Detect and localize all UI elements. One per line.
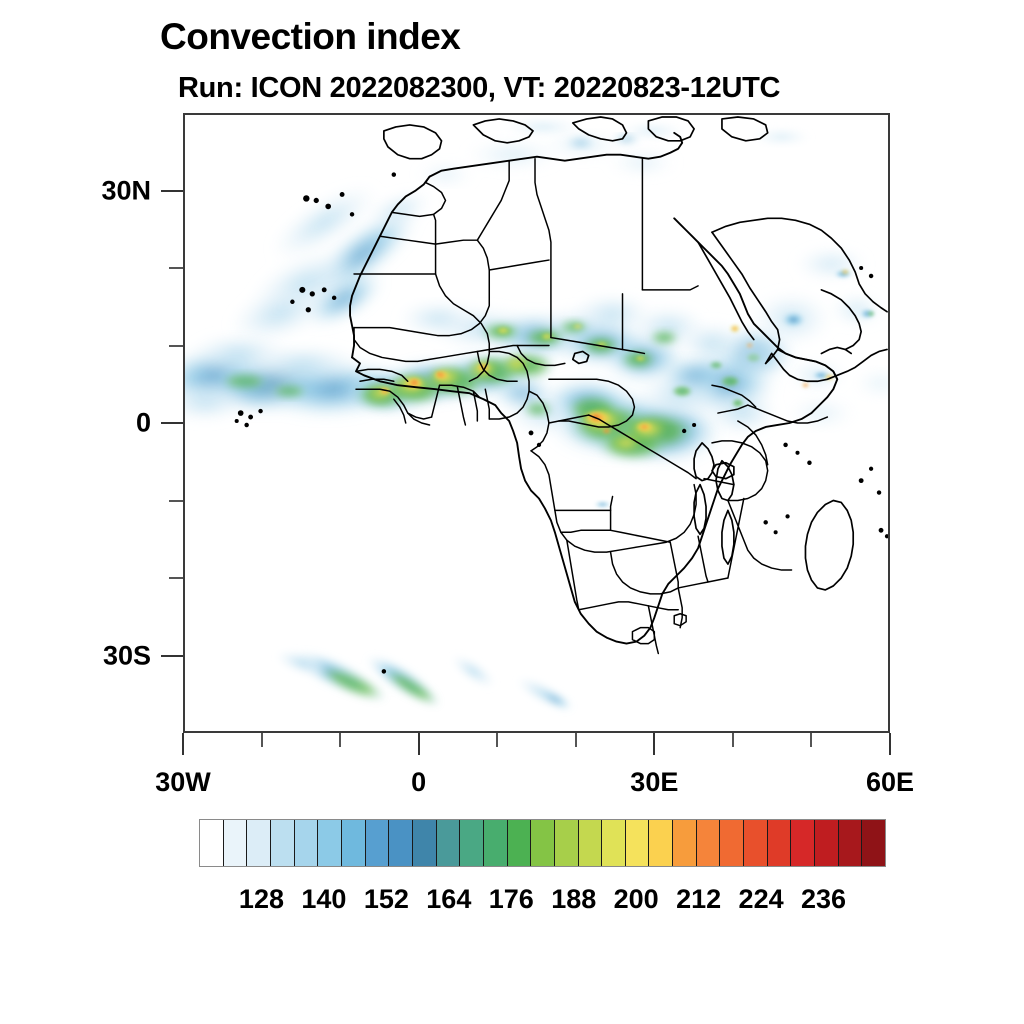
colorbar-cell-5	[318, 820, 342, 866]
colorbar-cell-9	[413, 820, 437, 866]
y-tick-4	[169, 500, 183, 502]
y-tick-2	[169, 345, 183, 347]
x-tick-2	[339, 733, 341, 747]
map-plot-area	[183, 113, 890, 733]
colorbar-cell-25	[791, 820, 815, 866]
colorbar-cell-23	[744, 820, 768, 866]
colorbar-cell-20	[673, 820, 697, 866]
y-axis-label-0: 0	[136, 408, 151, 439]
y-tick-6	[161, 655, 183, 657]
x-axis-label-30W: 30W	[155, 767, 211, 798]
colorbar-cell-22	[720, 820, 744, 866]
colorbar-cell-13	[508, 820, 532, 866]
colorbar-cell-6	[342, 820, 366, 866]
x-tick-5	[575, 733, 577, 747]
colorbar-cell-27	[839, 820, 863, 866]
x-tick-3	[418, 733, 420, 755]
colorbar-cell-2	[247, 820, 271, 866]
colorbar-tick-188: 188	[551, 884, 596, 915]
colorbar-tick-128: 128	[239, 884, 284, 915]
colorbar-tick-164: 164	[426, 884, 471, 915]
colorbar-tick-176: 176	[489, 884, 534, 915]
africa-map	[185, 115, 888, 731]
colorbar-cell-0	[200, 820, 224, 866]
colorbar-cell-3	[271, 820, 295, 866]
colorbar-tick-224: 224	[739, 884, 784, 915]
colorbar-cell-17	[602, 820, 626, 866]
colorbar-tick-140: 140	[301, 884, 346, 915]
y-axis-label-30N: 30N	[101, 175, 151, 206]
x-tick-1	[261, 733, 263, 747]
page-subtitle: Run: ICON 2022082300, VT: 20220823-12UTC	[178, 72, 780, 105]
x-tick-4	[496, 733, 498, 747]
colorbar-tick-200: 200	[614, 884, 659, 915]
colorbar-tick-152: 152	[364, 884, 409, 915]
x-tick-9	[889, 733, 891, 755]
colorbar-cell-16	[579, 820, 603, 866]
colorbar-cell-19	[649, 820, 673, 866]
y-tick-0	[161, 190, 183, 192]
colorbar-cell-21	[697, 820, 721, 866]
x-axis-label-60E: 60E	[866, 767, 914, 798]
colorbar-tick-212: 212	[676, 884, 721, 915]
y-axis-label-30S: 30S	[103, 640, 151, 671]
x-tick-8	[810, 733, 812, 747]
colorbar-cell-26	[815, 820, 839, 866]
x-tick-0	[182, 733, 184, 755]
colorbar-tick-236: 236	[801, 884, 846, 915]
colorbar-cell-24	[768, 820, 792, 866]
colorbar-cell-14	[531, 820, 555, 866]
y-tick-3	[161, 422, 183, 424]
colorbar-cell-7	[366, 820, 390, 866]
colorbar-cell-8	[389, 820, 413, 866]
x-axis-label-30E: 30E	[630, 767, 678, 798]
y-tick-5	[169, 577, 183, 579]
colorbar-cell-18	[626, 820, 650, 866]
y-tick-1	[169, 267, 183, 269]
page-title: Convection index	[160, 16, 460, 58]
colorbar-cell-15	[555, 820, 579, 866]
colorbar-cell-12	[484, 820, 508, 866]
colorbar-cell-28	[862, 820, 885, 866]
colorbar[interactable]	[199, 819, 886, 867]
x-tick-6	[653, 733, 655, 755]
colorbar-cell-4	[295, 820, 319, 866]
x-tick-7	[732, 733, 734, 747]
colorbar-cell-1	[224, 820, 248, 866]
x-axis-label-0: 0	[411, 767, 426, 798]
colorbar-cell-10	[437, 820, 461, 866]
colorbar-cell-11	[460, 820, 484, 866]
